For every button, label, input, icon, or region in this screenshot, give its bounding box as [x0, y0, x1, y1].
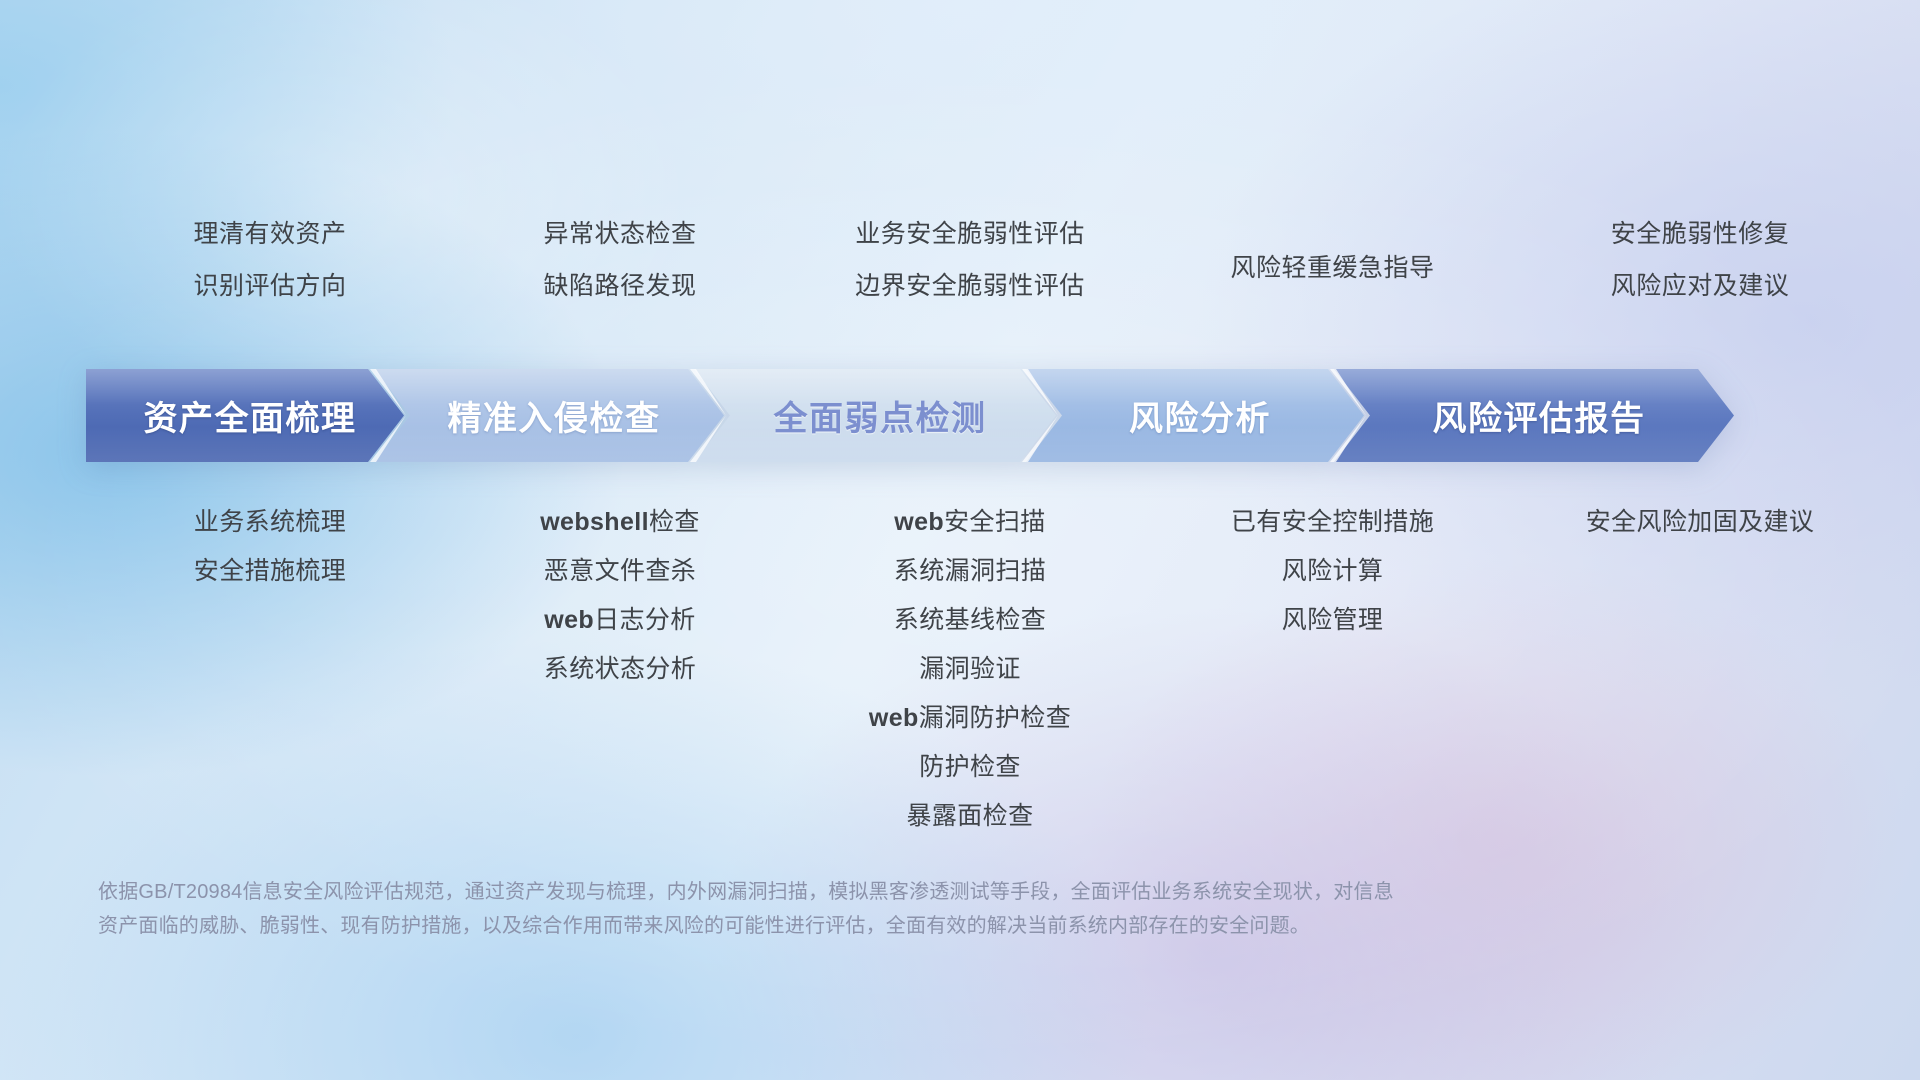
- footer-line: 依据GB/T20984信息安全风险评估规范，通过资产发现与梳理，内外网漏洞扫描，…: [98, 875, 1608, 909]
- list-item-emphasis: web: [869, 704, 919, 732]
- process-chevron-bar: 资产全面梳理 精准入侵检查 全面弱点检测 风险分析 风险评估报告: [86, 369, 1836, 462]
- chevron-label: 风险分析: [1119, 391, 1271, 440]
- top-tags-step-3: 业务安全脆弱性评估 边界安全脆弱性评估: [785, 222, 1155, 299]
- slide-background: 理清有效资产 识别评估方向 异常状态检查 缺陷路径发现 业务安全脆弱性评估 边界…: [0, 0, 1920, 1080]
- list-item: web漏洞防护检查: [785, 706, 1155, 731]
- chevron-step-3[interactable]: 全面弱点检测: [694, 369, 1056, 462]
- list-item: 风险管理: [1155, 608, 1510, 633]
- top-tag: 风险应对及建议: [1510, 274, 1890, 299]
- list-item-rest: 漏洞防护检查: [919, 704, 1071, 732]
- bottom-items-step-4: 已有安全控制措施 风险计算 风险管理: [1155, 510, 1510, 633]
- top-tags-step-5: 安全脆弱性修复 风险应对及建议: [1510, 222, 1890, 299]
- list-item-emphasis: web: [544, 606, 594, 634]
- top-tag: 风险轻重缓急指导: [1155, 256, 1510, 281]
- top-tags-step-2: 异常状态检查 缺陷路径发现: [455, 222, 785, 299]
- chevron-label: 精准入侵检查: [438, 391, 661, 440]
- list-item: 安全措施梳理: [85, 559, 455, 584]
- chevron-label: 全面弱点检测: [764, 391, 987, 440]
- top-tag: 边界安全脆弱性评估: [785, 274, 1155, 299]
- chevron-step-1[interactable]: 资产全面梳理: [86, 369, 404, 462]
- top-tag: 业务安全脆弱性评估: [785, 222, 1155, 247]
- list-item: 系统状态分析: [455, 657, 785, 682]
- list-item: 安全风险加固及建议: [1510, 510, 1890, 535]
- list-item: web安全扫描: [785, 510, 1155, 535]
- chevron-step-4[interactable]: 风险分析: [1026, 369, 1364, 462]
- list-item-rest: 日志分析: [594, 606, 696, 634]
- chevron-label: 资产全面梳理: [134, 391, 357, 440]
- list-item: 暴露面检查: [785, 804, 1155, 829]
- bottom-items-step-2: webshell检查 恶意文件查杀 web日志分析 系统状态分析: [455, 510, 785, 682]
- top-tag: 异常状态检查: [455, 222, 785, 247]
- list-item: 业务系统梳理: [85, 510, 455, 535]
- top-tag: 理清有效资产: [85, 222, 455, 247]
- list-item: 已有安全控制措施: [1155, 510, 1510, 535]
- list-item: 系统基线检查: [785, 608, 1155, 633]
- top-tag: 安全脆弱性修复: [1510, 222, 1890, 247]
- list-item-rest: 检查: [649, 508, 700, 536]
- list-item-emphasis: webshell: [540, 508, 649, 536]
- bottom-items-step-3: web安全扫描 系统漏洞扫描 系统基线检查 漏洞验证 web漏洞防护检查 防护检…: [785, 510, 1155, 829]
- chevron-label: 风险评估报告: [1423, 391, 1646, 440]
- bottom-items-row: 业务系统梳理 安全措施梳理 webshell检查 恶意文件查杀 web日志分析 …: [0, 510, 1920, 829]
- list-item-emphasis: web: [894, 508, 944, 536]
- bottom-items-step-1: 业务系统梳理 安全措施梳理: [85, 510, 455, 584]
- list-item: 恶意文件查杀: [455, 559, 785, 584]
- list-item: 漏洞验证: [785, 657, 1155, 682]
- list-item: web日志分析: [455, 608, 785, 633]
- chevron-step-5[interactable]: 风险评估报告: [1334, 369, 1734, 462]
- top-tags-step-1: 理清有效资产 识别评估方向: [85, 222, 455, 299]
- list-item: 风险计算: [1155, 559, 1510, 584]
- list-item: webshell检查: [455, 510, 785, 535]
- footer-line: 资产面临的威胁、脆弱性、现有防护措施，以及综合作用而带来风险的可能性进行评估，全…: [98, 909, 1608, 943]
- top-tags-row: 理清有效资产 识别评估方向 异常状态检查 缺陷路径发现 业务安全脆弱性评估 边界…: [0, 222, 1920, 299]
- footer-description: 依据GB/T20984信息安全风险评估规范，通过资产发现与梳理，内外网漏洞扫描，…: [98, 875, 1608, 943]
- slide-content: 理清有效资产 识别评估方向 异常状态检查 缺陷路径发现 业务安全脆弱性评估 边界…: [0, 0, 1920, 1080]
- chevron-step-2[interactable]: 精准入侵检查: [374, 369, 724, 462]
- list-item: 防护检查: [785, 755, 1155, 780]
- top-tags-step-4: 风险轻重缓急指导: [1155, 222, 1510, 299]
- list-item-rest: 安全扫描: [944, 508, 1046, 536]
- top-tag: 缺陷路径发现: [455, 274, 785, 299]
- list-item: 系统漏洞扫描: [785, 559, 1155, 584]
- top-tag: 识别评估方向: [85, 274, 455, 299]
- bottom-items-step-5: 安全风险加固及建议: [1510, 510, 1890, 535]
